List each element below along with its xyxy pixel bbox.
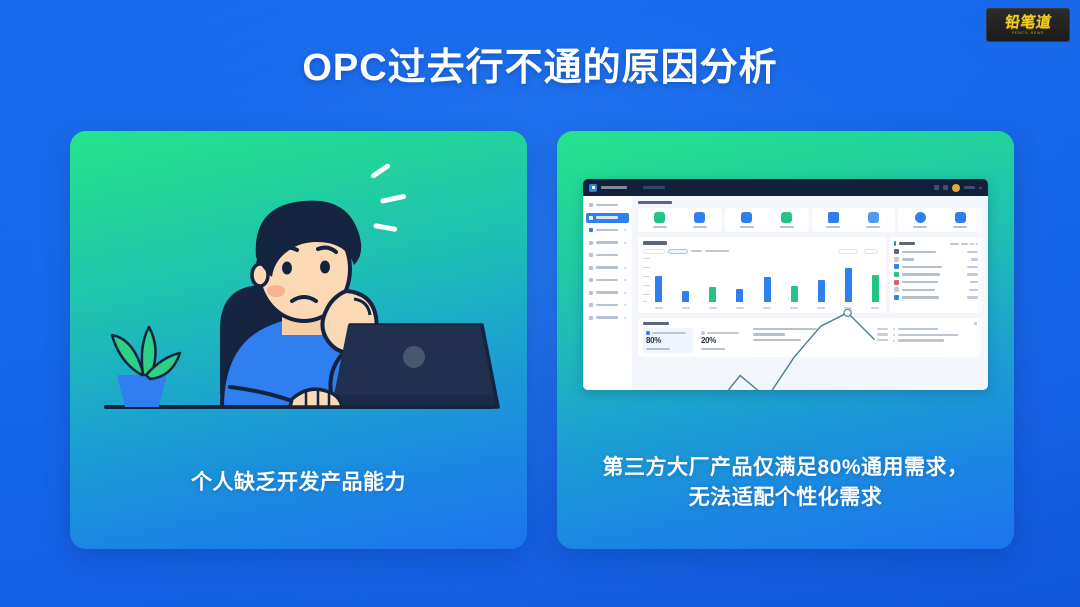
tag-icon: [589, 291, 593, 295]
sidebar-item-1[interactable]: [586, 213, 629, 223]
chart-label-0: [691, 250, 702, 252]
card-left-caption: 个人缺乏开发产品能力: [70, 468, 527, 498]
chart-filter-1[interactable]: [668, 249, 688, 254]
sidebar-item-4[interactable]: [586, 250, 629, 260]
file-icon: [654, 212, 665, 223]
home-icon[interactable]: [934, 185, 939, 190]
card-left: 个人缺乏开发产品能力: [70, 131, 527, 549]
list-item[interactable]: [894, 264, 978, 269]
rank-icon: [894, 272, 899, 277]
list-item[interactable]: [894, 249, 978, 254]
note-row: [893, 339, 977, 341]
rank-icon: [894, 257, 899, 262]
dashboard-logo-icon: [589, 184, 597, 192]
sales-chart-card: [638, 237, 886, 312]
chart-trend-line: [655, 259, 879, 390]
illustration-frustrated-man-at-laptop: [70, 149, 527, 439]
gear-icon: [589, 316, 593, 320]
brand-logo-text: 铅笔道: [1004, 15, 1053, 30]
chart-plot-area: [643, 257, 881, 309]
list-item[interactable]: [894, 295, 978, 300]
slide-title: OPC过去行不通的原因分析: [0, 36, 1080, 91]
chart-y-axis: [643, 257, 653, 309]
doc-icon: [589, 253, 593, 257]
sidebar-item-3[interactable]: [586, 238, 629, 248]
sidebar-item-7[interactable]: [586, 288, 629, 298]
inbox-icon: [781, 212, 792, 223]
card-right-caption-line1: 第三方大厂产品仅满足80%通用需求，: [557, 453, 1014, 483]
chart-label-1: [705, 250, 729, 252]
dashboard-screenshot: 80% 20%: [583, 179, 988, 390]
box-icon: [589, 228, 593, 232]
quick-action-group-3: [898, 208, 982, 232]
rank-icon: [894, 287, 899, 292]
quick-action-6[interactable]: [913, 212, 927, 228]
username-label: [964, 186, 975, 189]
dashboard-sidebar: [583, 196, 632, 390]
order-icon: [694, 212, 705, 223]
note-row: [893, 328, 977, 330]
quick-action-1[interactable]: [693, 212, 707, 228]
chart-icon: [589, 266, 593, 270]
list-item[interactable]: [894, 257, 978, 262]
rank-icon: [894, 249, 899, 254]
users-icon: [589, 278, 593, 282]
rank-icon: [894, 264, 899, 269]
card-right-caption: 第三方大厂产品仅满足80%通用需求， 无法适配个性化需求: [557, 453, 1014, 513]
chart-export-button[interactable]: [864, 249, 878, 254]
dashboard-logo-text: [601, 186, 627, 189]
quick-action-3[interactable]: [780, 212, 794, 228]
chart-toolbar: [643, 249, 881, 254]
chart-filter-0[interactable]: [643, 249, 665, 254]
rank-icon: [894, 280, 899, 285]
quick-action-4[interactable]: [826, 212, 840, 228]
sidebar-item-9[interactable]: [586, 313, 629, 323]
ranking-list-card: [890, 237, 982, 312]
chart-x-axis: [655, 307, 879, 309]
sidebar-item-5[interactable]: [586, 263, 629, 273]
quick-actions-row: [638, 208, 982, 232]
list-item[interactable]: [894, 272, 978, 277]
dashboard-topbar: [583, 179, 988, 196]
ranking-list-header: [894, 241, 978, 246]
quick-action-group-2: [812, 208, 896, 232]
quick-action-group-0: [638, 208, 722, 232]
section-title-quick-actions: [638, 201, 672, 204]
chevron-down-icon[interactable]: [979, 187, 982, 189]
dashboard-breadcrumb: [643, 186, 665, 189]
card-right-caption-line2: 无法适配个性化需求: [557, 483, 1014, 513]
sidebar-item-0[interactable]: [586, 200, 629, 210]
refresh-icon: [915, 212, 926, 223]
avatar[interactable]: [952, 184, 960, 192]
cart-icon: [589, 303, 593, 307]
brand-logo-subtitle: PENCIL NEWS: [1012, 32, 1044, 36]
quick-action-2[interactable]: [740, 212, 754, 228]
more-icon[interactable]: [974, 322, 977, 324]
card-right: 80% 20%: [557, 131, 1014, 549]
note-row: [893, 334, 977, 336]
dashboard-icon: [589, 216, 593, 220]
mail-icon: [828, 212, 839, 223]
list-item[interactable]: [894, 287, 978, 292]
list-item[interactable]: [894, 280, 978, 285]
chart-title: [643, 241, 667, 244]
quick-action-0[interactable]: [653, 212, 667, 228]
bell-icon[interactable]: [943, 185, 948, 190]
sidebar-item-6[interactable]: [586, 275, 629, 285]
quick-action-7[interactable]: [953, 212, 967, 228]
rank-icon: [894, 295, 899, 300]
dashboard-main: 80% 20%: [632, 196, 988, 390]
quick-action-5[interactable]: [866, 212, 880, 228]
summary-notes: [893, 328, 977, 345]
sidebar-item-2[interactable]: [586, 225, 629, 235]
quick-action-group-1: [725, 208, 809, 232]
clipboard-icon: [741, 212, 752, 223]
chart-range-select[interactable]: [838, 249, 858, 254]
book-icon: [955, 212, 966, 223]
sidebar-item-8[interactable]: [586, 300, 629, 310]
grid-icon: [589, 203, 593, 207]
list-icon: [589, 241, 593, 245]
shirt-icon: [868, 212, 879, 223]
